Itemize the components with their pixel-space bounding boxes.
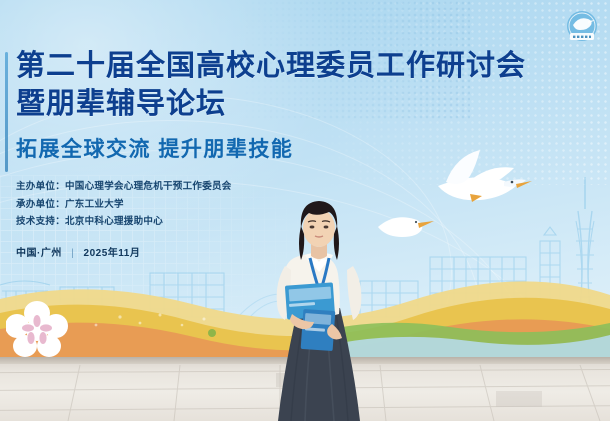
organizer-line: 主办单位：中国心理学会心理危机干预工作委员会 xyxy=(16,178,536,196)
banner-subtitle: 拓展全球交流 提升朋辈技能 xyxy=(16,133,536,163)
event-location: 中国·广州 xyxy=(16,248,62,259)
conference-emblem-icon: 中国·广州 xyxy=(563,8,601,46)
person-photo xyxy=(258,196,380,421)
plum-blossom-icon xyxy=(6,300,68,357)
banner-title-line-2: 暨朋辈辅导论坛 xyxy=(16,90,536,120)
banner-title-line-1: 第二十届全国高校心理委员工作研讨会 xyxy=(16,52,536,82)
screenshot-root: 第二十届全国高校心理委员工作研讨会 暨朋辈辅导论坛 拓展全球交流 提升朋辈技能 … xyxy=(0,0,610,421)
title-accent-bar xyxy=(5,52,8,172)
face xyxy=(303,209,335,247)
separator: | xyxy=(65,248,80,259)
event-date: 2025年11月 xyxy=(84,248,141,259)
